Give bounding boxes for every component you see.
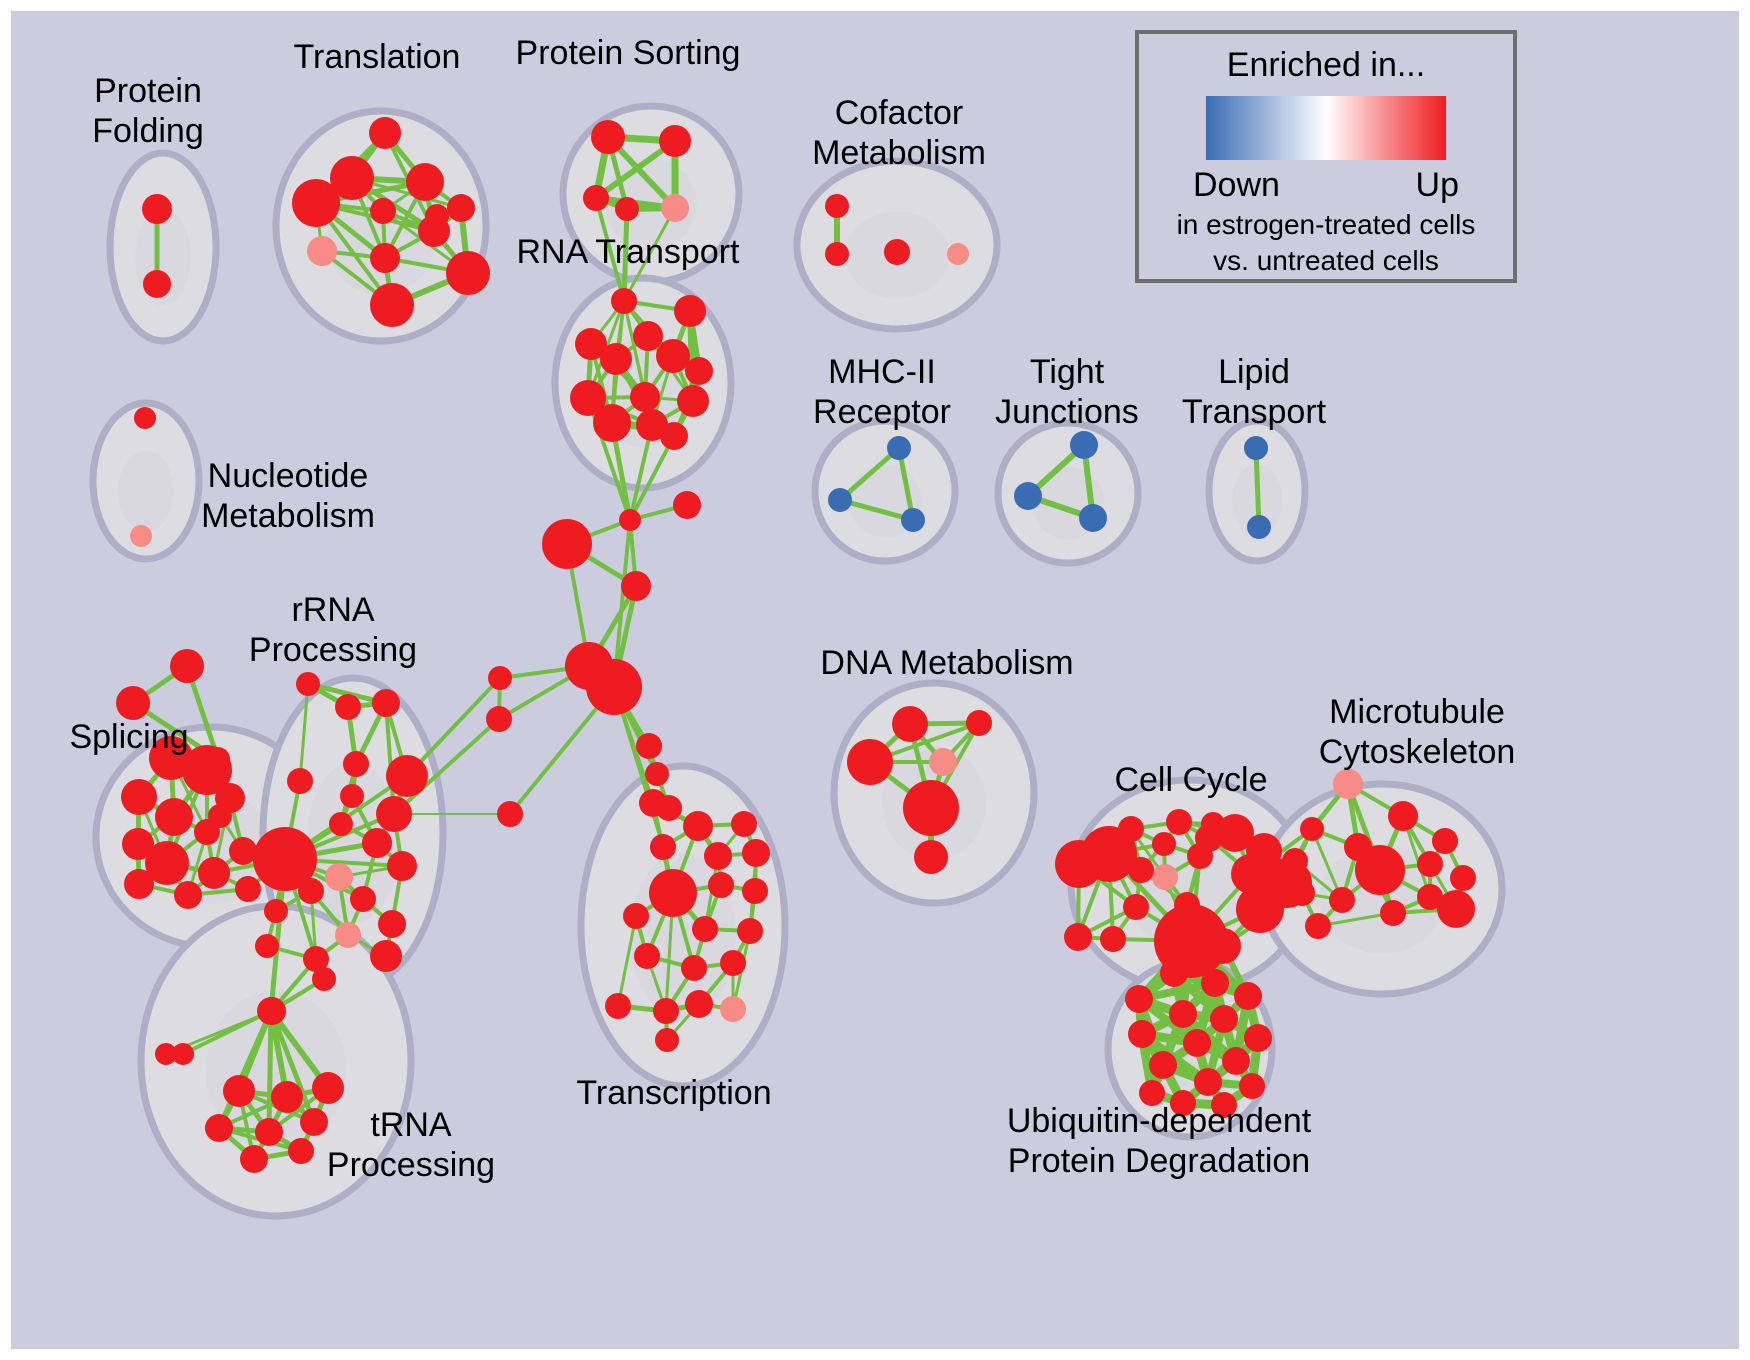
gene-set-node[interactable] (1160, 959, 1188, 987)
gene-set-node[interactable] (720, 996, 746, 1022)
gene-set-node[interactable] (600, 343, 632, 375)
gene-set-node[interactable] (1222, 1047, 1250, 1075)
gene-set-node[interactable] (884, 239, 910, 265)
cluster-label-ubiquitin-degradation: Ubiquitin-dependentProtein Degradation (1007, 1102, 1312, 1180)
gene-set-node[interactable] (255, 1118, 283, 1146)
gene-set-node[interactable] (340, 784, 364, 808)
cluster-label-splicing: Splicing (69, 718, 188, 756)
gene-set-node[interactable] (742, 878, 768, 904)
gene-set-node[interactable] (300, 1108, 328, 1136)
gene-set-node[interactable] (292, 179, 340, 227)
cluster-label-translation: Translation (294, 38, 461, 76)
gene-set-node[interactable] (370, 198, 396, 224)
gene-set-node[interactable] (586, 659, 642, 715)
gene-set-node[interactable] (1282, 848, 1308, 874)
gene-set-node[interactable] (692, 916, 718, 942)
gene-set-node[interactable] (335, 922, 361, 948)
gene-set-node[interactable] (198, 857, 230, 889)
gene-set-node[interactable] (1329, 887, 1355, 913)
gene-set-node[interactable] (1417, 851, 1443, 877)
gene-set-node[interactable] (1380, 900, 1406, 926)
gene-set-node[interactable] (205, 1114, 233, 1142)
gene-set-node[interactable] (1247, 515, 1271, 539)
gene-set-node[interactable] (174, 881, 202, 909)
gene-set-node[interactable] (406, 163, 444, 201)
gene-set-node[interactable] (593, 404, 631, 442)
gene-set-node[interactable] (370, 940, 402, 972)
gene-set-node[interactable] (708, 872, 734, 898)
cluster-label-cell-cycle: Cell Cycle (1114, 761, 1267, 799)
gene-set-node[interactable] (1333, 769, 1363, 799)
cluster-label-lipid-transport: LipidTransport (1182, 353, 1327, 431)
gene-set-node[interactable] (376, 796, 412, 832)
gene-set-node[interactable] (661, 194, 689, 222)
gene-set-node[interactable] (121, 779, 157, 815)
cluster-label-dna-metabolism: DNA Metabolism (820, 644, 1073, 682)
gene-set-node[interactable] (660, 422, 688, 450)
gene-set-node[interactable] (1128, 1020, 1156, 1048)
gene-set-node[interactable] (206, 747, 230, 771)
gene-set-node[interactable] (447, 194, 475, 222)
gene-set-node[interactable] (329, 812, 353, 836)
gene-set-node[interactable] (1305, 913, 1331, 939)
gene-set-node[interactable] (929, 748, 957, 776)
gene-set-node[interactable] (1205, 928, 1241, 964)
gene-set-node[interactable] (1244, 1024, 1272, 1052)
gene-set-node[interactable] (656, 795, 682, 821)
gene-set-node[interactable] (966, 710, 992, 736)
gene-set-node[interactable] (645, 762, 669, 786)
gene-set-node[interactable] (685, 357, 713, 385)
cluster-label-nucleotide-metabolism: NucleotideMetabolism (201, 457, 375, 535)
figure-stage: ProteinFoldingTranslationProtein Sorting… (0, 0, 1750, 1360)
legend-subtitle-line1: in estrogen-treated cells (1139, 209, 1513, 241)
gene-set-node[interactable] (229, 837, 257, 865)
gene-set-node[interactable] (223, 1075, 255, 1107)
gene-set-node[interactable] (825, 194, 849, 218)
gene-set-node[interactable] (488, 666, 512, 690)
gene-set-node[interactable] (656, 339, 690, 373)
legend-endpoints: Down Up (1193, 166, 1459, 205)
gene-set-node[interactable] (1152, 864, 1178, 890)
cluster-label-rrna-processing: rRNAProcessing (249, 591, 417, 669)
gene-set-node[interactable] (674, 295, 706, 327)
gene-set-node[interactable] (828, 488, 852, 512)
gene-set-node[interactable] (240, 1145, 268, 1173)
gene-set-node[interactable] (1194, 1068, 1222, 1096)
gene-set-node[interactable] (255, 934, 279, 958)
gene-set-node[interactable] (1055, 840, 1103, 888)
gene-set-node[interactable] (386, 755, 428, 797)
gene-set-node[interactable] (372, 689, 400, 717)
gene-set-node[interactable] (1187, 843, 1213, 869)
gene-set-node[interactable] (370, 243, 400, 273)
gene-set-node[interactable] (296, 672, 320, 696)
gene-set-node[interactable] (901, 508, 925, 532)
gene-set-node[interactable] (1064, 923, 1092, 951)
gene-set-node[interactable] (633, 321, 663, 351)
gene-set-node[interactable] (887, 436, 911, 460)
legend-down-label: Down (1193, 166, 1280, 205)
gene-set-node[interactable] (630, 382, 660, 412)
gene-set-node[interactable] (130, 525, 152, 547)
gene-set-node[interactable] (903, 780, 959, 836)
gene-set-node[interactable] (142, 194, 172, 224)
cluster-label-cofactor-metabolism: CofactorMetabolism (812, 94, 986, 172)
gene-set-node[interactable] (370, 283, 414, 327)
gene-set-node[interactable] (350, 886, 376, 912)
gene-set-node[interactable] (1210, 1005, 1238, 1033)
gene-set-node[interactable] (1152, 832, 1176, 856)
cluster-label-protein-sorting: Protein Sorting (516, 34, 741, 72)
gene-set-node[interactable] (362, 828, 392, 858)
gene-set-node[interactable] (847, 739, 893, 785)
gene-set-node[interactable] (1236, 885, 1284, 933)
gene-set-node[interactable] (1183, 1029, 1211, 1057)
gene-set-node[interactable] (1300, 817, 1324, 841)
gene-set-node[interactable] (623, 903, 649, 929)
gene-set-node[interactable] (1437, 890, 1475, 928)
gene-set-node[interactable] (312, 1072, 344, 1104)
gene-set-node[interactable] (611, 288, 637, 314)
gene-set-node[interactable] (288, 1138, 314, 1164)
gene-set-node[interactable] (1201, 969, 1229, 997)
cluster-label-rna-transport: RNA Transport (517, 233, 741, 271)
gene-set-node[interactable] (425, 204, 449, 228)
edge (269, 1011, 271, 1132)
gene-set-node[interactable] (335, 694, 361, 720)
gene-set-node[interactable] (591, 120, 625, 154)
cluster-inner-shade-nucleotide-metabolism (118, 450, 173, 531)
gene-set-node[interactable] (155, 1043, 177, 1065)
network-canvas: ProteinFoldingTranslationProtein Sorting… (11, 11, 1739, 1349)
gene-set-node[interactable] (143, 270, 171, 298)
gene-set-node[interactable] (673, 491, 701, 519)
gene-set-node[interactable] (369, 117, 401, 149)
gene-set-node[interactable] (605, 993, 631, 1019)
legend-subtitle-line2: vs. untreated cells (1139, 245, 1513, 277)
gene-set-node[interactable] (914, 840, 948, 874)
legend-title: Enriched in... (1139, 48, 1513, 84)
gene-set-node[interactable] (312, 967, 336, 991)
legend-color-gradient-bar (1206, 96, 1446, 160)
gene-set-node[interactable] (583, 185, 609, 211)
gene-set-node[interactable] (1128, 857, 1154, 883)
gene-set-node[interactable] (681, 955, 707, 981)
gene-set-node[interactable] (208, 804, 232, 828)
gene-set-node[interactable] (378, 910, 406, 938)
gene-set-node[interactable] (619, 509, 641, 531)
gene-set-node[interactable] (1166, 809, 1192, 835)
gene-set-node[interactable] (257, 997, 285, 1025)
gene-set-node[interactable] (1100, 926, 1126, 952)
legend-up-label: Up (1416, 166, 1459, 205)
gene-set-node[interactable] (636, 733, 662, 759)
gene-set-node[interactable] (683, 811, 713, 841)
gene-set-node[interactable] (446, 251, 490, 295)
gene-set-node[interactable] (1014, 482, 1042, 510)
cluster-label-mhc-ii-receptor: MHC-IIReceptor (813, 353, 951, 431)
gene-set-node[interactable] (116, 686, 150, 720)
gene-set-node[interactable] (1432, 828, 1458, 854)
legend-panel: Enriched in... Down Up in estrogen-treat… (1135, 30, 1517, 283)
gene-set-node[interactable] (343, 751, 369, 777)
cluster-label-transcription: Transcription (576, 1074, 771, 1112)
cluster-label-tight-junctions: TightJunctions (995, 353, 1139, 431)
gene-set-node[interactable] (685, 990, 713, 1018)
gene-set-node[interactable] (235, 876, 261, 902)
gene-set-node[interactable] (634, 943, 660, 969)
gene-set-node[interactable] (659, 125, 691, 157)
gene-set-node[interactable] (1450, 865, 1476, 891)
gene-set-node[interactable] (655, 1028, 679, 1052)
gene-set-node[interactable] (155, 798, 193, 836)
gene-set-node[interactable] (621, 571, 651, 601)
gene-set-node[interactable] (1125, 985, 1153, 1013)
gene-set-node[interactable] (325, 863, 353, 891)
gene-set-node[interactable] (704, 842, 732, 870)
gene-set-node[interactable] (271, 1081, 303, 1113)
gene-set-node[interactable] (134, 407, 156, 429)
gene-set-node[interactable] (1239, 1073, 1265, 1099)
gene-set-node[interactable] (486, 706, 512, 732)
gene-set-node[interactable] (170, 649, 204, 683)
gene-set-node[interactable] (1070, 431, 1098, 459)
gene-set-node[interactable] (1234, 982, 1262, 1010)
gene-set-node[interactable] (677, 385, 709, 417)
cluster-label-microtubule-cytoskeleton: MicrotubuleCytoskeleton (1319, 693, 1516, 771)
gene-set-node[interactable] (287, 768, 313, 794)
gene-set-node[interactable] (650, 834, 676, 860)
gene-set-node[interactable] (1149, 1051, 1177, 1079)
gene-set-node[interactable] (1169, 1000, 1197, 1028)
gene-set-node[interactable] (947, 243, 969, 265)
gene-set-node[interactable] (720, 950, 746, 976)
gene-set-node[interactable] (731, 811, 757, 837)
gene-set-node[interactable] (298, 878, 324, 904)
gene-set-node[interactable] (653, 998, 679, 1024)
gene-set-node[interactable] (387, 851, 417, 881)
gene-set-node[interactable] (1388, 801, 1418, 831)
gene-set-node[interactable] (1244, 436, 1268, 460)
gene-set-node[interactable] (1079, 504, 1107, 532)
gene-set-node[interactable] (825, 242, 849, 266)
gene-set-node[interactable] (649, 869, 697, 917)
gene-set-node[interactable] (1123, 894, 1149, 920)
gene-set-node[interactable] (615, 197, 639, 221)
gene-set-node[interactable] (892, 706, 928, 742)
gene-set-node[interactable] (542, 519, 592, 569)
gene-set-node[interactable] (737, 918, 763, 944)
cluster-label-protein-folding: ProteinFolding (92, 72, 204, 150)
gene-set-node[interactable] (742, 839, 770, 867)
gene-set-node[interactable] (1289, 880, 1315, 906)
gene-set-node[interactable] (264, 899, 288, 923)
gene-set-node[interactable] (497, 801, 523, 827)
gene-set-node[interactable] (307, 236, 337, 266)
gene-set-node[interactable] (1201, 812, 1225, 836)
gene-set-node[interactable] (1355, 845, 1405, 895)
gene-set-node[interactable] (124, 869, 154, 899)
